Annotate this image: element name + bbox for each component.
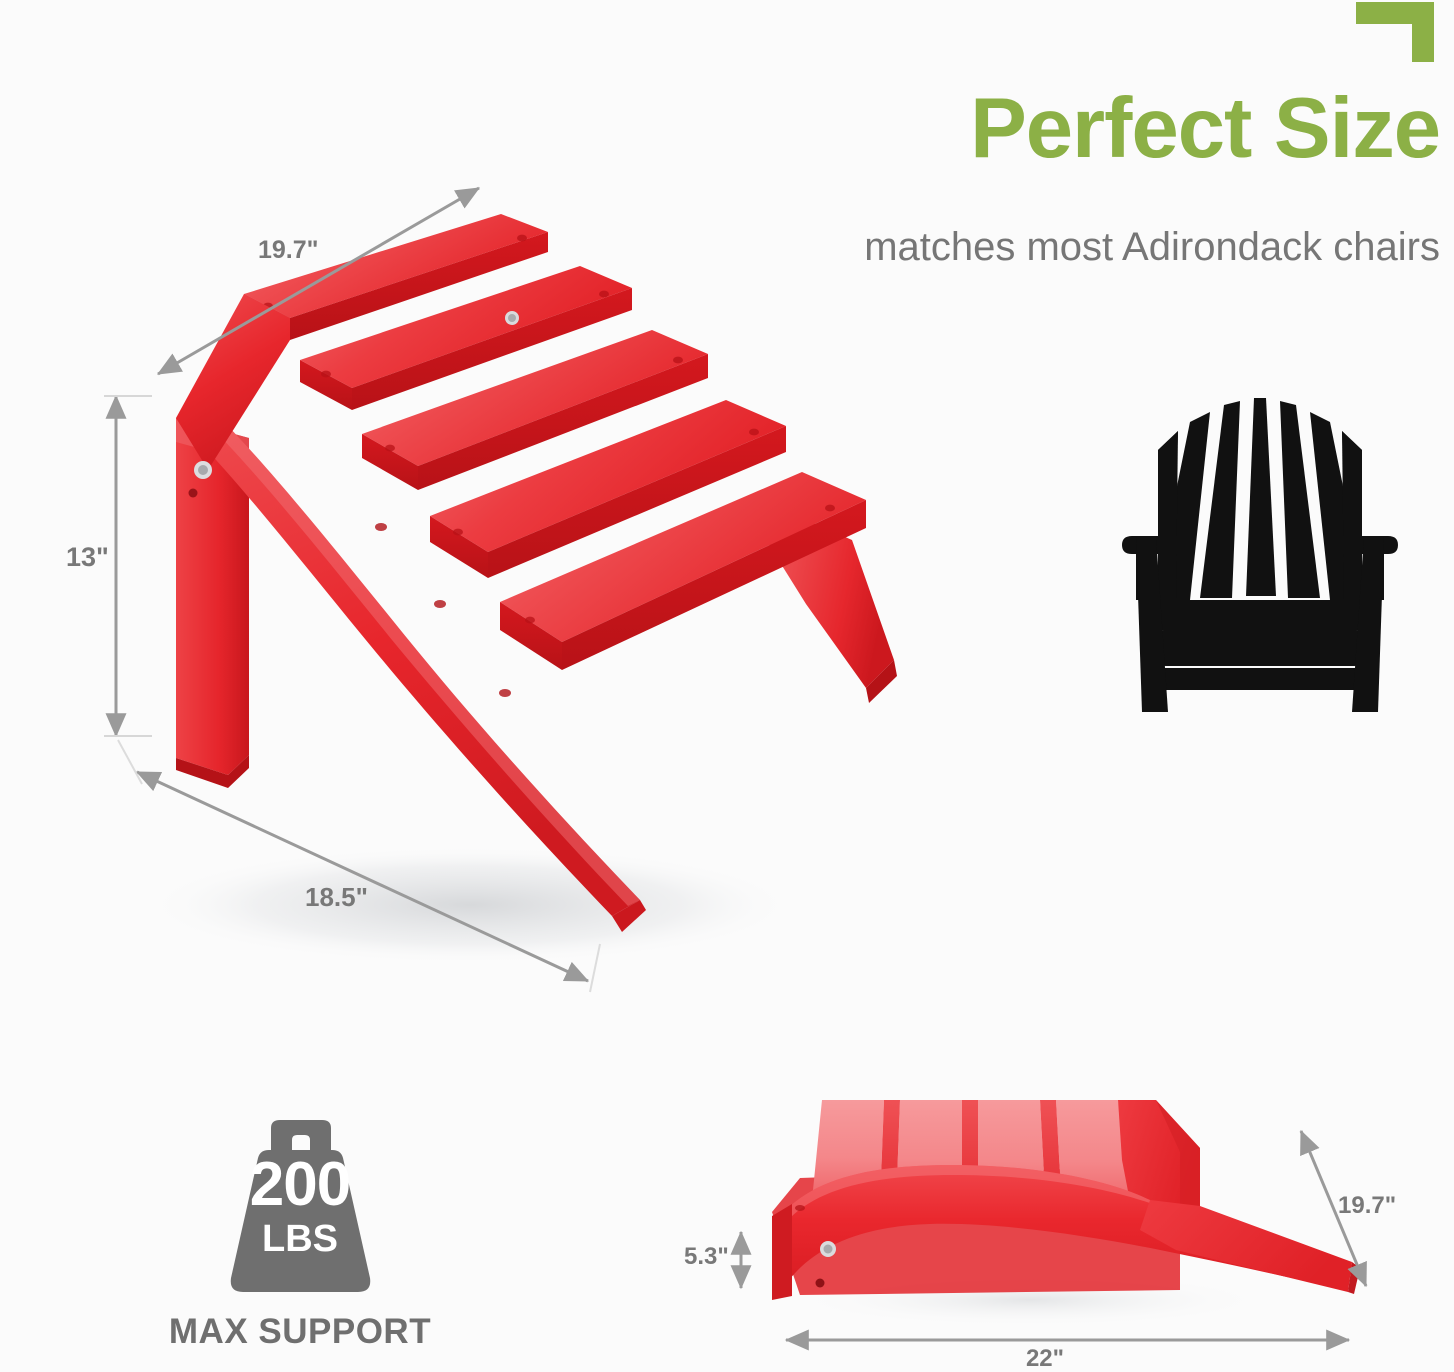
ottoman-slat-1 [244,214,548,340]
folded-foot-extension [1140,1200,1360,1294]
ottoman-slat-2 [300,266,632,410]
dimension-label-height: 13" [66,542,109,573]
ottoman-right-leg [766,505,897,703]
ottoman-mounting-holes [375,523,511,697]
max-support-badge: 200 LBS MAX SUPPORT [150,1120,450,1370]
adirondack-chair-icon [1080,368,1440,738]
ottoman-left-leg [176,418,249,788]
dimension-label-width-top: 19.7" [258,236,319,265]
dimension-line-depth [137,772,588,981]
folded-main-body [772,1165,1352,1300]
dimension-line-width-top [158,188,479,374]
ottoman-slat-4 [430,400,786,578]
ottoman-left-apron [176,294,290,498]
page-subtitle: matches most Adirondack chairs [660,225,1440,269]
ottoman-front-rail [176,406,640,916]
weight-value: 200 [198,1154,403,1216]
dimension-label-folded-width: 22" [1026,1345,1064,1372]
ottoman-front-foot [612,900,646,932]
max-support-caption: MAX SUPPORT [130,1312,470,1352]
corner-bracket-icon [1356,2,1434,62]
page-title: Perfect Size [680,86,1440,171]
dimension-label-folded-depth: 19.7" [1338,1192,1396,1220]
folded-fasteners [795,1205,836,1288]
infographic-page: Perfect Size matches most Adirondack cha… [0,0,1454,1372]
folded-slats [812,1100,1130,1212]
dimension-label-folded-thickness: 5.3" [684,1243,729,1271]
folded-upper-arm [1118,1100,1200,1212]
ottoman-slat-5 [500,472,866,670]
ottoman-slat-3 [362,330,708,490]
dimension-label-depth: 18.5" [305,882,368,913]
weight-unit: LBS [198,1220,403,1258]
